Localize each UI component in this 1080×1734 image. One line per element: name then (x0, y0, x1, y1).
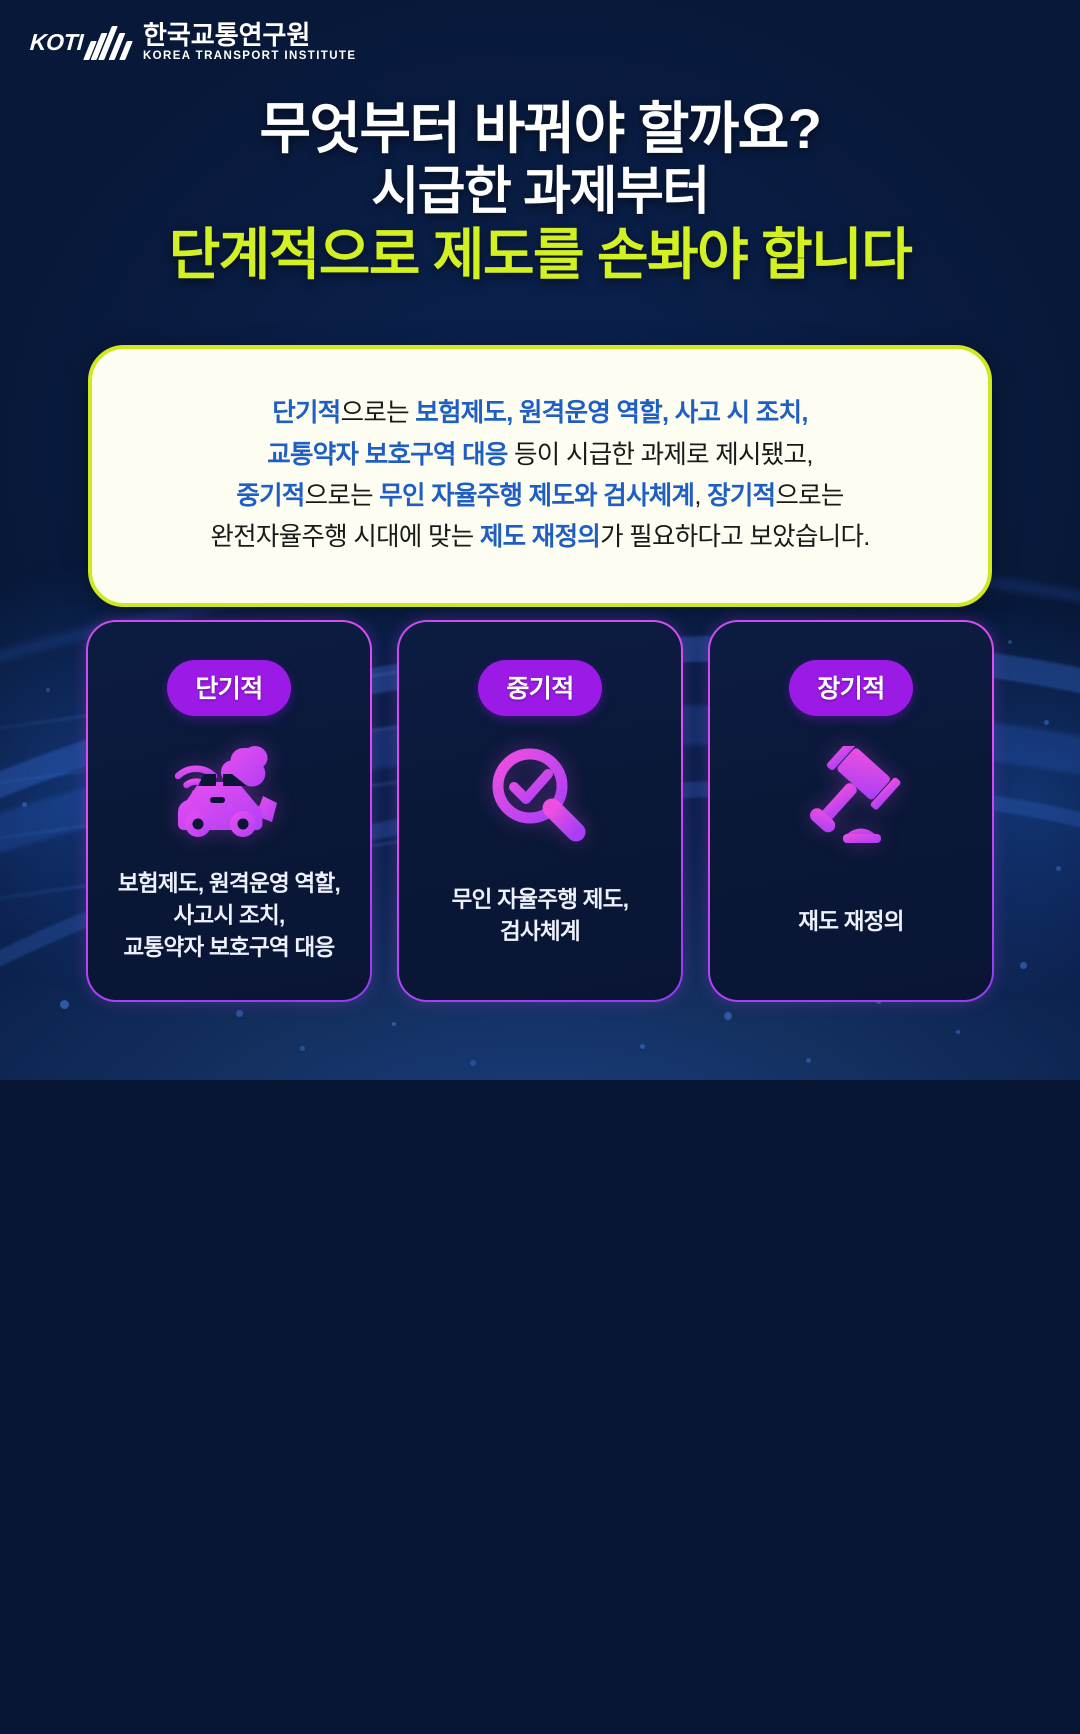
koti-logo: KOTI 한국교통연구원 KOREA TRANSPORT INSTITUTE (30, 22, 356, 63)
status-badge: 장기적 (789, 660, 912, 716)
timeline-card-list: 단기적 (86, 620, 994, 1002)
background-dot (22, 802, 27, 807)
summary-line: 중기적으로는 무인 자율주행 제도와 검사체계, 장기적으로는 (236, 476, 843, 517)
summary-line: 완전자율주행 시대에 맞는 제도 재정의가 필요하다고 보았습니다. (210, 517, 869, 558)
gavel-icon (710, 730, 992, 862)
background-dot (640, 1044, 645, 1049)
headline-line-3: 단계적으로 제도를 손봐야 합니다 (0, 222, 1080, 288)
summary-card: 단기적으로는 보험제도, 원격운영 역할, 사고 시 조치, 교통약자 보호구역… (88, 345, 992, 607)
background-dot (806, 1058, 811, 1063)
logo-stripes-icon (87, 24, 129, 60)
card-caption: 무인 자율주행 제도,검사체계 (440, 884, 641, 948)
background-dot (46, 688, 50, 692)
logo-wordmark: 한국교통연구원 KOREA TRANSPORT INSTITUTE (143, 22, 356, 63)
magnifier-check-icon (399, 730, 681, 862)
background-dot (1008, 640, 1012, 644)
timeline-card-long-term[interactable]: 장기적 재도 재정의 (708, 620, 994, 1002)
page-title: 무엇부터 바꿔야 할까요? 시급한 과제부터 단계적으로 제도를 손봐야 합니다 (0, 96, 1080, 288)
background-dot (60, 1000, 69, 1009)
card-caption: 보험제도, 원격운영 역할,사고시 조치,교통약자 보호구역 대응 (106, 868, 352, 964)
timeline-card-short-term[interactable]: 단기적 (86, 620, 372, 1002)
summary-line: 단기적으로는 보험제도, 원격운영 역할, 사고 시 조치, (272, 393, 807, 434)
background-dot (1056, 866, 1061, 871)
background-dot (236, 1010, 243, 1017)
summary-line: 교통약자 보호구역 대응 등이 시급한 과제로 제시됐고, (267, 435, 812, 476)
logo-name-kr: 한국교통연구원 (143, 22, 356, 48)
background-dot (1044, 720, 1049, 725)
headline-line-2: 시급한 과제부터 (0, 162, 1080, 223)
timeline-card-mid-term[interactable]: 중기적 무인 자율주행 제도,검사체계 (397, 620, 683, 1002)
logo-name-en: KOREA TRANSPORT INSTITUTE (143, 51, 356, 63)
headline-line-1: 무엇부터 바꿔야 할까요? (0, 96, 1080, 162)
background-dot (392, 1022, 396, 1026)
background-dot (1020, 962, 1027, 969)
background-dot (470, 1060, 476, 1066)
background-dot (724, 1012, 732, 1020)
car-crash-connected-icon (88, 730, 370, 862)
background-dot (300, 1046, 305, 1051)
logo-mark-text: KOTI (29, 29, 84, 56)
status-badge: 단기적 (167, 660, 290, 716)
status-badge: 중기적 (478, 660, 601, 716)
card-caption: 재도 재정의 (786, 906, 916, 938)
background-dot (956, 1030, 960, 1034)
